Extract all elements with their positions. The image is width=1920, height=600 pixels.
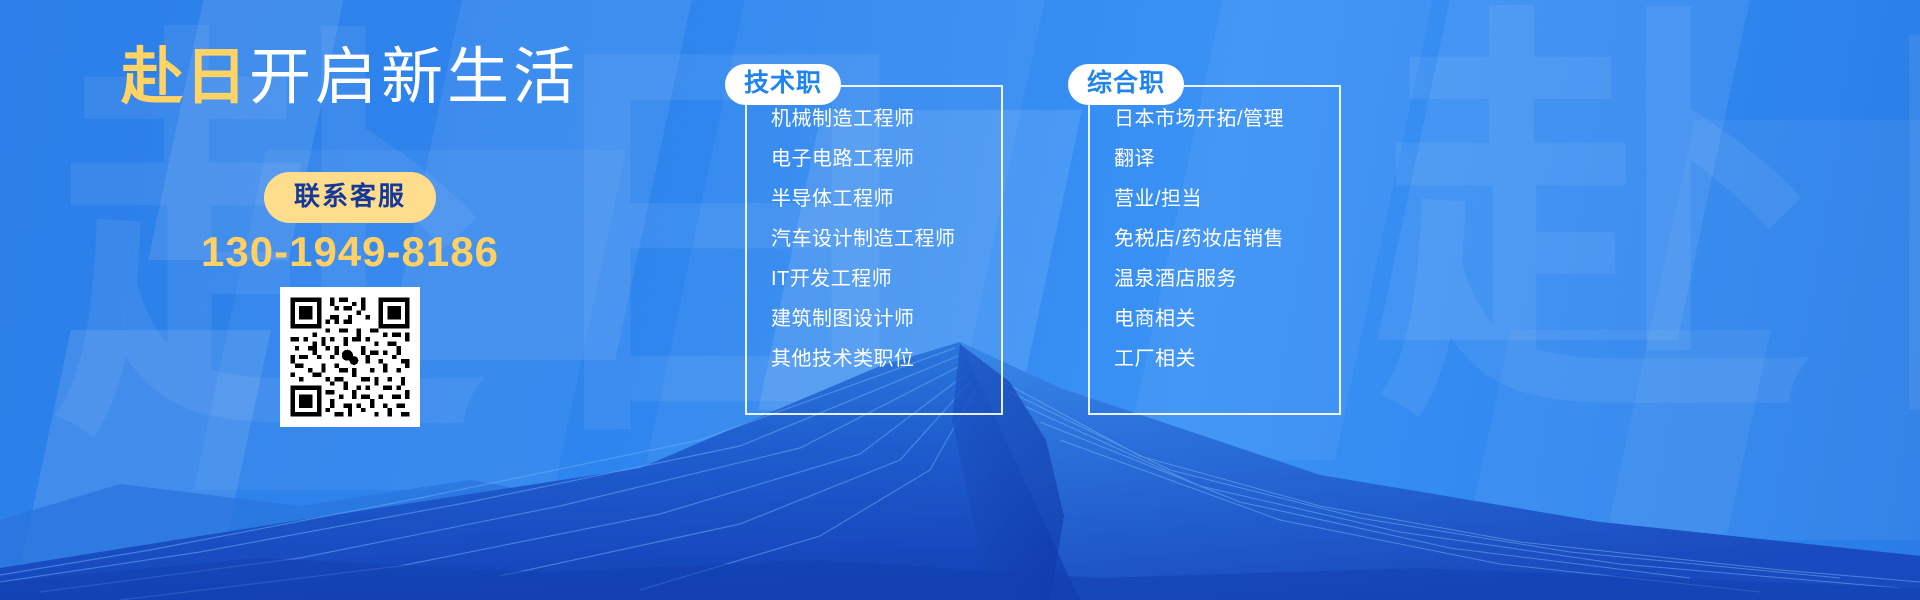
wechat-qr-code[interactable] — [280, 287, 420, 427]
list-item[interactable]: IT开发工程师 — [771, 269, 1001, 309]
contact-support-button[interactable]: 联系客服 — [264, 172, 436, 223]
panel-technical-jobs: 技术职 机械制造工程师 电子电路工程师 半导体工程师 汽车设计制造工程师 IT开… — [745, 85, 1003, 415]
phone-number[interactable]: 130-1949-8186 — [0, 228, 700, 276]
recruitment-banner: 赴日 赴日 — [0, 0, 1920, 600]
page-title-accent: 赴日 — [121, 43, 249, 112]
list-item[interactable]: 翻译 — [1114, 149, 1339, 189]
list-item[interactable]: 营业/担当 — [1114, 189, 1339, 229]
qr-code-svg — [286, 293, 414, 421]
list-item[interactable]: 汽车设计制造工程师 — [771, 229, 1001, 269]
list-item[interactable]: 日本市场开拓/管理 — [1114, 109, 1339, 149]
panel-label-technical[interactable]: 技术职 — [725, 64, 841, 105]
page-title-plain: 开启新生活 — [249, 43, 579, 112]
hero-block: 赴日开启新生活 联系客服 130-1949-8186 — [0, 0, 700, 600]
list-item[interactable]: 建筑制图设计师 — [771, 309, 1001, 349]
panel-label-general[interactable]: 综合职 — [1068, 64, 1184, 105]
list-item[interactable]: 工厂相关 — [1114, 349, 1339, 389]
list-item[interactable]: 电商相关 — [1114, 309, 1339, 349]
list-item[interactable]: 机械制造工程师 — [771, 109, 1001, 149]
list-item[interactable]: 电子电路工程师 — [771, 149, 1001, 189]
page-title: 赴日开启新生活 — [0, 42, 700, 113]
panel-general-jobs: 综合职 日本市场开拓/管理 翻译 营业/担当 免税店/药妆店销售 温泉酒店服务 … — [1088, 85, 1341, 415]
list-item[interactable]: 其他技术类职位 — [771, 349, 1001, 389]
list-item[interactable]: 免税店/药妆店销售 — [1114, 229, 1339, 269]
job-list-technical: 机械制造工程师 电子电路工程师 半导体工程师 汽车设计制造工程师 IT开发工程师… — [747, 87, 1001, 389]
list-item[interactable]: 温泉酒店服务 — [1114, 269, 1339, 309]
job-list-general: 日本市场开拓/管理 翻译 营业/担当 免税店/药妆店销售 温泉酒店服务 电商相关… — [1090, 87, 1339, 389]
list-item[interactable]: 半导体工程师 — [771, 189, 1001, 229]
